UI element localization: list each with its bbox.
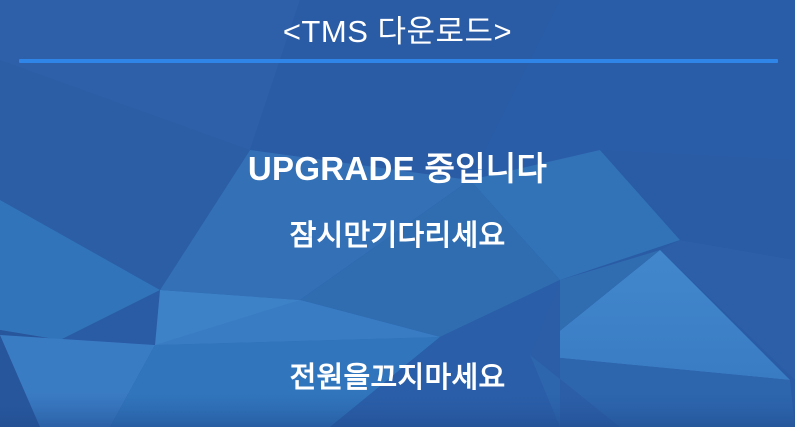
upgrade-screen: <TMS 다운로드> UPGRADE 중입니다 잠시만기다리세요 전원을끄지마세… [0,0,795,427]
page-title: <TMS 다운로드> [283,16,512,47]
header-divider [19,59,778,63]
header-bar: <TMS 다운로드> [0,0,795,62]
message-area: UPGRADE 중입니다 잠시만기다리세요 전원을끄지마세요 [0,62,795,427]
power-warning-message: 전원을끄지마세요 [0,364,795,393]
primary-status-message: UPGRADE 중입니다 [0,152,795,185]
secondary-status-message: 잠시만기다리세요 [0,222,795,251]
